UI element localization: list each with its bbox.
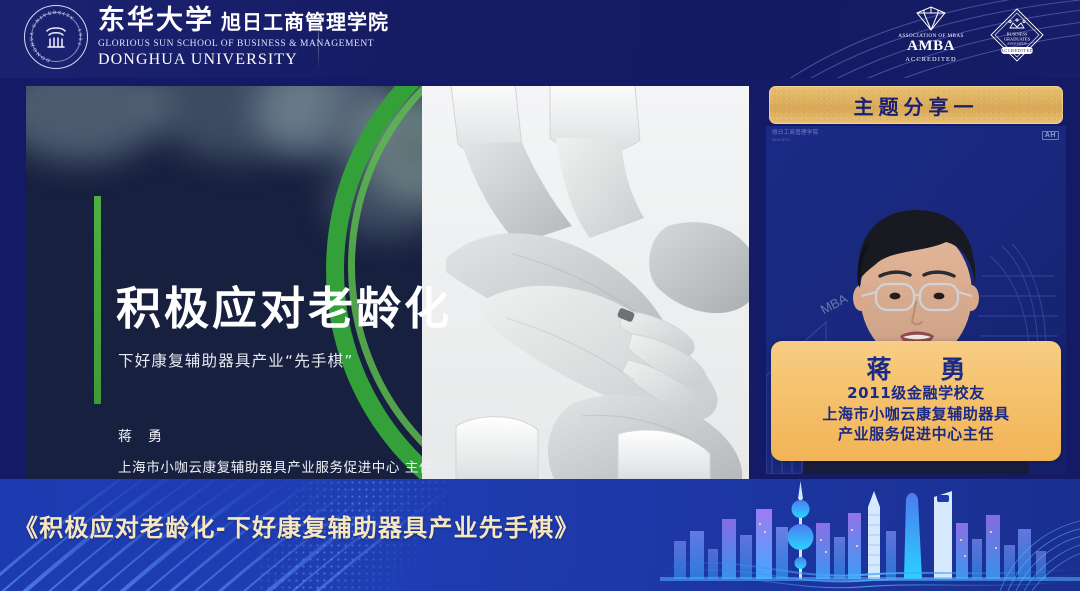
seal-glyph bbox=[25, 6, 87, 68]
stacked-hands-photo bbox=[422, 86, 749, 479]
slide-accent-bar bbox=[94, 196, 101, 404]
slide-title: 积极应对老龄化 bbox=[116, 286, 452, 331]
university-name-en: DONGHUA UNIVERSITY bbox=[98, 51, 389, 69]
broadcast-screen: DONGHUA UNIVERSITY · 1951 · bbox=[0, 0, 1080, 591]
slide-speaker-name: 蒋 勇 bbox=[118, 426, 163, 446]
shanghai-skyline-illustration bbox=[660, 479, 1080, 591]
header-divider bbox=[318, 8, 319, 70]
school-name-en: GLORIOUS SUN SCHOOL OF BUSINESS & MANAGE… bbox=[98, 39, 389, 49]
speaker-alumni-line: 2011级金融学校友 bbox=[847, 383, 985, 404]
university-seal-icon: DONGHUA UNIVERSITY · 1951 · bbox=[24, 5, 88, 69]
bokeh-blob bbox=[26, 86, 166, 162]
speaker-name-card: 蒋 勇 2011级金融学校友 上海市小咖云康复辅助器具 产业服务促进中心主任 bbox=[771, 341, 1061, 461]
university-name-cn: 东华大学 bbox=[98, 7, 214, 34]
school-name-cn: 旭日工商管理学院 bbox=[221, 12, 389, 32]
program-title: 《积极应对老龄化-下好康复辅助器具产业先手棋》 bbox=[14, 508, 580, 543]
amba-line3: ACCREDITED bbox=[895, 56, 967, 63]
presentation-slide[interactable]: 积极应对老龄化 下好康复辅助器具产业“先手棋” 蒋 勇 上海市小咖云康复辅助器具… bbox=[26, 86, 749, 479]
bga-shield-icon: BUSINESS GRADUATES ASSOCIATION ACCREDITE… bbox=[988, 6, 1046, 64]
section-label-bar: 主题分享一 bbox=[769, 86, 1063, 124]
bga-accredited-logo: BUSINESS GRADUATES ASSOCIATION ACCREDITE… bbox=[985, 6, 1049, 64]
svg-text:ASSOCIATION: ASSOCIATION bbox=[1007, 42, 1028, 46]
hands-illustration bbox=[422, 86, 749, 479]
amba-accredited-logo: ASSOCIATION OF MBAS AMBA ACCREDITED bbox=[895, 6, 967, 63]
amba-line2: AMBA bbox=[895, 39, 967, 54]
slide-speaker-org: 上海市小咖云康复辅助器具产业服务促进中心 主任 bbox=[118, 456, 433, 476]
section-label-text: 主题分享一 bbox=[854, 91, 979, 120]
bga-line2: ACCREDITED bbox=[1001, 48, 1034, 53]
speaker-name: 蒋 勇 bbox=[854, 357, 977, 383]
university-logo: DONGHUA UNIVERSITY · 1951 · bbox=[24, 5, 389, 69]
speaker-org-line2: 产业服务促进中心主任 bbox=[838, 424, 994, 445]
amba-diamond-icon bbox=[914, 6, 948, 32]
header-bar: DONGHUA UNIVERSITY · 1951 · bbox=[0, 0, 1080, 78]
speaker-org-line1: 上海市小咖云康复辅助器具 bbox=[822, 404, 1009, 425]
slide-subtitle: 下好康复辅助器具产业“先手棋” bbox=[118, 349, 354, 371]
